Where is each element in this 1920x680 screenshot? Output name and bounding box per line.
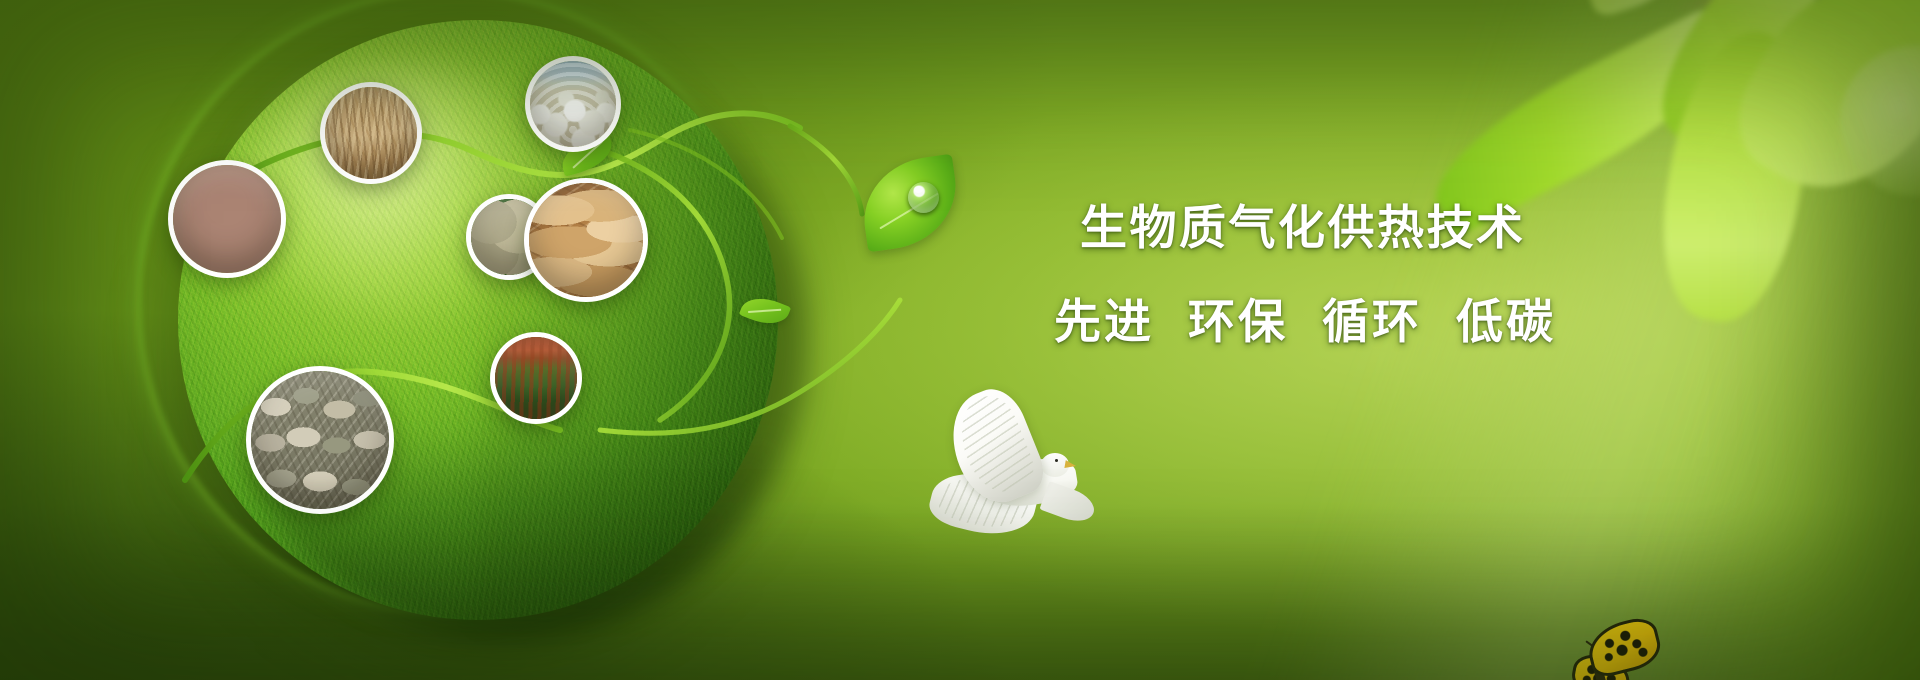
headline-block: 生物质气化供热技术 先进 环保 循环 低碳: [1080, 200, 1680, 352]
subline-word-4: 低碳: [1456, 283, 1556, 352]
hero-banner: 生物质气化供热技术 先进 环保 循环 低碳: [0, 0, 1920, 680]
subline-word-1: 先进: [1054, 283, 1154, 352]
banner-subline: 先进 环保 循环 低碳: [1054, 283, 1680, 352]
banner-headline: 生物质气化供热技术: [1080, 200, 1680, 255]
subline-word-3: 循环: [1322, 283, 1422, 352]
subline-word-2: 环保: [1188, 283, 1288, 352]
